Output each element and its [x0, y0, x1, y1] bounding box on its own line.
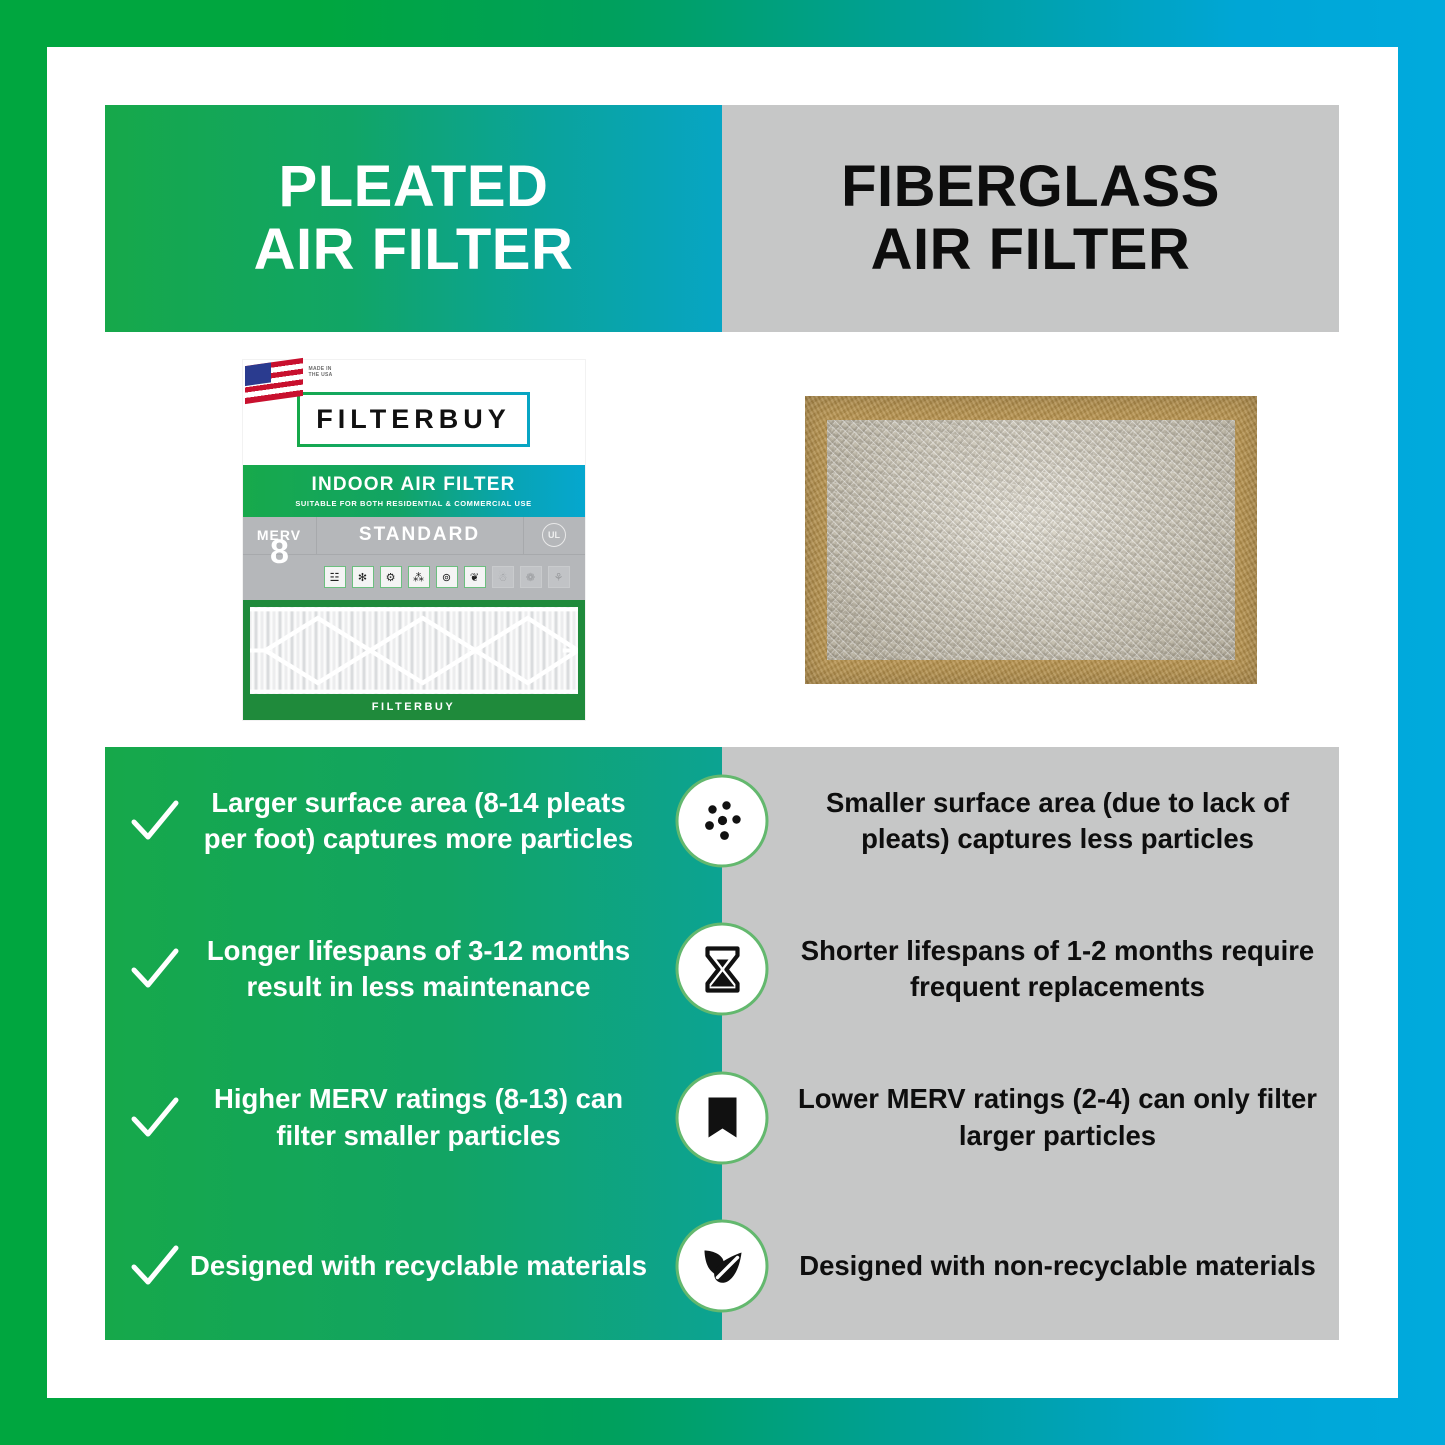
brand-logo-box: FILTERBUY [297, 392, 530, 447]
ul-certification-mark: UL [523, 517, 585, 554]
comparison-row-left: Longer lifespans of 3-12 months result i… [105, 895, 722, 1043]
comparison-row-left: Larger surface area (8-14 pleats per foo… [105, 747, 722, 895]
comparison-row-right: Lower MERV ratings (2-4) can only filter… [722, 1044, 1339, 1192]
infographic-card: PLEATED AIR FILTER FIBERGLASS AIR FILTER [47, 47, 1398, 1398]
package-band: INDOOR AIR FILTER SUITABLE FOR BOTH RESI… [243, 465, 585, 517]
dust-mites-icon: ⁂ [408, 566, 430, 588]
fiberglass-filter-image [805, 396, 1257, 684]
comparison-row: Higher MERV ratings (8-13) can filter sm… [105, 1044, 1339, 1192]
header-pleated-line2: AIR FILTER [254, 219, 574, 282]
comparison-row: Designed with recyclable materials Desig… [105, 1192, 1339, 1340]
header-fiberglass-line2: AIR FILTER [841, 219, 1220, 282]
header-fiberglass-line1: FIBERGLASS [841, 156, 1220, 219]
package-icon-item: ☃ [491, 566, 515, 588]
usa-flag-icon [245, 357, 303, 403]
package-icon-item: ❁ [519, 566, 543, 588]
check-icon [123, 795, 187, 847]
comparison-left-text: Higher MERV ratings (8-13) can filter sm… [187, 1081, 650, 1154]
package-band-subtitle: SUITABLE FOR BOTH RESIDENTIAL & COMMERCI… [295, 499, 531, 508]
pet-dander-icon: ❦ [464, 566, 486, 588]
comparison-row-right: Smaller surface area (due to lack of ple… [722, 747, 1339, 895]
fiberglass-product-cell [722, 332, 1339, 747]
comparison-left-text: Larger surface area (8-14 pleats per foo… [187, 785, 650, 858]
comparison-row-left: Designed with recyclable materials [105, 1192, 722, 1340]
package-icon-item: ☳ [323, 566, 347, 588]
hourglass-icon [676, 923, 769, 1016]
header-pleated-title: PLEATED AIR FILTER [254, 156, 574, 281]
comparison-right-text: Designed with non-recyclable materials [794, 1248, 1321, 1285]
header-pleated: PLEATED AIR FILTER [105, 105, 722, 332]
ul-icon: UL [542, 523, 566, 547]
bookmark-icon [676, 1071, 769, 1164]
pleat-texture [250, 607, 578, 694]
pleated-product-cell: MADE IN THE USA FILTERBUY INDOOR AIR FIL… [105, 332, 722, 747]
package-icon-item: ⊚ [435, 566, 459, 588]
package-icon-row: 8 ☳ ✻ ⚙ ⁂ ⊚ ❦ ☃ ❁ ⚘ [243, 555, 585, 600]
made-in-line2: THE USA [309, 372, 333, 379]
check-icon [123, 1092, 187, 1144]
comparison-rows: Larger surface area (8-14 pleats per foo… [105, 747, 1339, 1340]
brand-name: FILTERBUY [316, 404, 511, 434]
package-footer-brand: FILTERBUY [250, 694, 578, 720]
header-fiberglass-title: FIBERGLASS AIR FILTER [841, 156, 1220, 281]
package-icon-item: ⚘ [547, 566, 571, 588]
dust-lint-icon: ☳ [324, 566, 346, 588]
header-fiberglass: FIBERGLASS AIR FILTER [722, 105, 1339, 332]
header-row: PLEATED AIR FILTER FIBERGLASS AIR FILTER [105, 105, 1339, 332]
leaf-icon [676, 1219, 769, 1312]
package-icon-item: ✻ [351, 566, 375, 588]
pollen-icon: ✻ [352, 566, 374, 588]
bacteria-icon: ⊚ [436, 566, 458, 588]
smoke-icon: ☃ [492, 566, 514, 588]
comparison-right-text: Lower MERV ratings (2-4) can only filter… [794, 1081, 1321, 1154]
comparison-right-text: Shorter lifespans of 1-2 months require … [794, 933, 1321, 1006]
fiberglass-mesh-texture [827, 420, 1235, 660]
header-pleated-line1: PLEATED [254, 156, 574, 219]
comparison-row-right: Shorter lifespans of 1-2 months require … [722, 895, 1339, 1043]
filterbuy-package-image: MADE IN THE USA FILTERBUY INDOOR AIR FIL… [243, 360, 585, 720]
package-band-title: INDOOR AIR FILTER [311, 474, 515, 496]
pleated-media-area: FILTERBUY [243, 600, 585, 720]
package-grade-label: STANDARD [317, 524, 523, 546]
package-merv-value: 8 [243, 533, 317, 572]
virus-icon: ⚘ [548, 566, 570, 588]
check-icon [123, 1240, 187, 1292]
made-in-line1: MADE IN [309, 366, 333, 373]
comparison-left-text: Longer lifespans of 3-12 months result i… [187, 933, 650, 1006]
particle-icon-strip: ☳ ✻ ⚙ ⁂ ⊚ ❦ ☃ ❁ ⚘ [323, 566, 571, 588]
odors-icon: ❁ [520, 566, 542, 588]
comparison-left-text: Designed with recyclable materials [187, 1248, 650, 1285]
made-in-usa-label: MADE IN THE USA [309, 366, 333, 380]
content-frame: PLEATED AIR FILTER FIBERGLASS AIR FILTER [105, 105, 1339, 1340]
package-icon-item: ❦ [463, 566, 487, 588]
product-image-row: MADE IN THE USA FILTERBUY INDOOR AIR FIL… [105, 332, 1339, 747]
package-icon-item: ⚙ [379, 566, 403, 588]
support-grid-icon [250, 607, 578, 694]
check-icon [123, 943, 187, 995]
package-icon-item: ⁂ [407, 566, 431, 588]
comparison-row: Longer lifespans of 3-12 months result i… [105, 895, 1339, 1043]
comparison-right-text: Smaller surface area (due to lack of ple… [794, 785, 1321, 858]
mold-spores-icon: ⚙ [380, 566, 402, 588]
comparison-row: Larger surface area (8-14 pleats per foo… [105, 747, 1339, 895]
comparison-section: Larger surface area (8-14 pleats per foo… [105, 747, 1339, 1340]
package-header: MADE IN THE USA FILTERBUY [243, 360, 585, 465]
particles-icon [676, 775, 769, 868]
comparison-row-left: Higher MERV ratings (8-13) can filter sm… [105, 1044, 722, 1192]
comparison-row-right: Designed with non-recyclable materials [722, 1192, 1339, 1340]
